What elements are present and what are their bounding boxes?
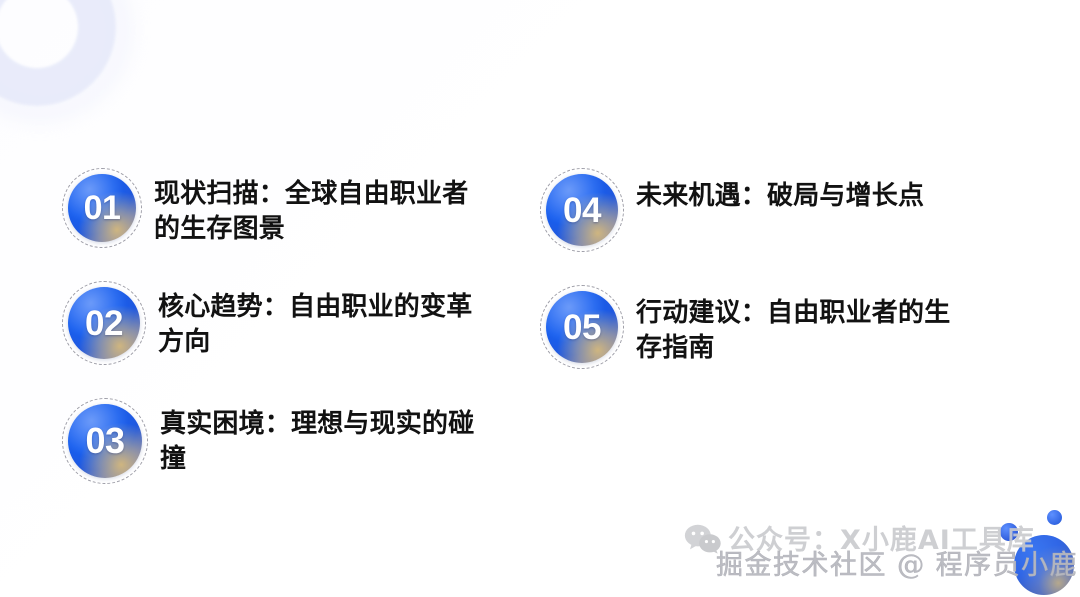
- agenda-item-03[interactable]: 03 真实困境：理想与现实的碰 撞: [62, 398, 532, 484]
- number-badge-01: 01: [62, 168, 142, 248]
- number-badge-03: 03: [62, 398, 148, 484]
- agenda-item-05[interactable]: 05 行动建议：自由职业者的生 存指南: [540, 285, 1040, 369]
- slide-canvas: 01 现状扫描：全球自由职业者 的生存图景 02 核心趋势：自由职业的变革 方向…: [0, 0, 1080, 597]
- agenda-item-04[interactable]: 04 未来机遇：破局与增长点: [540, 168, 1040, 252]
- number-badge-02: 02: [62, 281, 146, 365]
- agenda-item-01[interactable]: 01 现状扫描：全球自由职业者 的生存图景: [62, 168, 532, 248]
- number-badge-04: 04: [540, 168, 624, 252]
- badge-number-label: 03: [68, 404, 142, 478]
- agenda-item-02[interactable]: 02 核心趋势：自由职业的变革 方向: [62, 281, 532, 365]
- badge-number-label: 05: [546, 291, 618, 363]
- agenda-item-title: 真实困境：理想与现实的碰 撞: [160, 398, 474, 476]
- agenda-left-column: 01 现状扫描：全球自由职业者 的生存图景 02 核心趋势：自由职业的变革 方向…: [62, 168, 532, 517]
- badge-number-label: 01: [68, 174, 136, 242]
- watermark-community: 掘金技术社区 @ 程序员小鹿: [716, 543, 1078, 582]
- number-badge-05: 05: [540, 285, 624, 369]
- agenda-item-title: 核心趋势：自由职业的变革 方向: [158, 281, 472, 359]
- badge-number-label: 04: [546, 174, 618, 246]
- agenda-item-title: 现状扫描：全球自由职业者 的生存图景: [154, 168, 468, 246]
- agenda-item-title: 未来机遇：破局与增长点: [636, 168, 924, 213]
- agenda-right-column: 04 未来机遇：破局与增长点 05 行动建议：自由职业者的生 存指南: [540, 168, 1040, 402]
- agenda-item-title: 行动建议：自由职业者的生 存指南: [636, 285, 950, 365]
- gradient-sphere-small-icon: [1047, 510, 1062, 525]
- badge-number-label: 02: [68, 287, 140, 359]
